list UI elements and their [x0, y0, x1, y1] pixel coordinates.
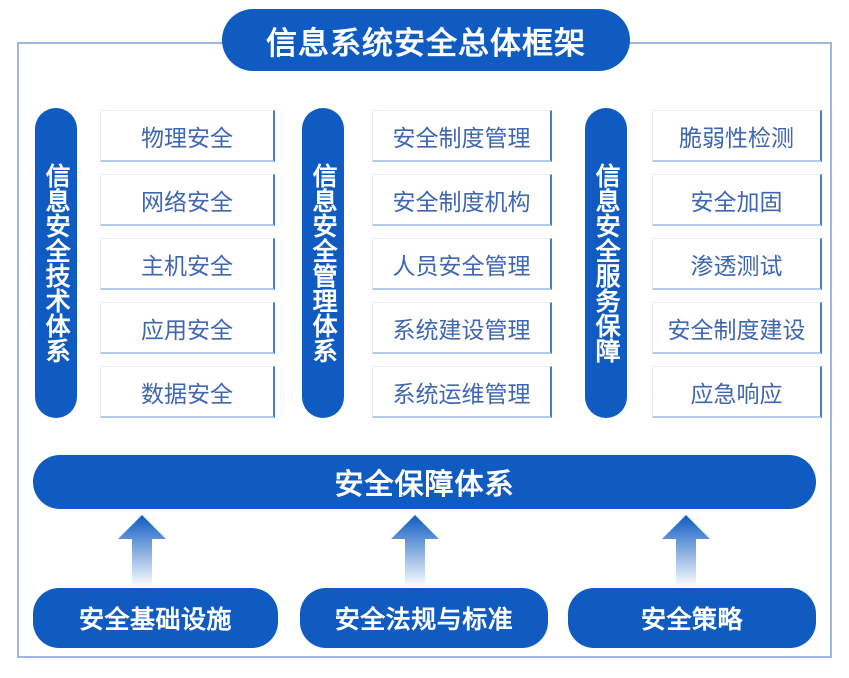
- column-label-1: 信息安全技术体系: [43, 163, 69, 363]
- arrow-up-icon: [391, 515, 439, 587]
- item-label: 安全制度机构: [393, 183, 531, 217]
- item-box[interactable]: 渗透测试: [652, 238, 822, 290]
- column-label-pill-1: 信息安全技术体系: [35, 108, 77, 418]
- item-label: 网络安全: [141, 183, 233, 217]
- item-box[interactable]: 系统运维管理: [372, 366, 552, 418]
- item-label: 物理安全: [141, 119, 233, 153]
- item-box[interactable]: 主机安全: [100, 238, 275, 290]
- foundation-pill-regulations[interactable]: 安全法规与标准: [300, 588, 548, 648]
- item-label: 系统建设管理: [393, 311, 531, 345]
- item-label: 主机安全: [141, 247, 233, 281]
- item-box[interactable]: 脆弱性检测: [652, 110, 822, 162]
- item-box[interactable]: 安全制度建设: [652, 302, 822, 354]
- assurance-system-bar: 安全保障体系: [33, 455, 816, 509]
- item-box[interactable]: 物理安全: [100, 110, 275, 162]
- column-items-1: 物理安全 网络安全 主机安全 应用安全 数据安全: [100, 110, 275, 418]
- item-label: 安全加固: [691, 183, 783, 217]
- item-label: 渗透测试: [691, 247, 783, 281]
- item-box[interactable]: 网络安全: [100, 174, 275, 226]
- item-label: 安全制度建设: [668, 311, 806, 345]
- item-label: 应用安全: [141, 311, 233, 345]
- item-label: 安全制度管理: [393, 119, 531, 153]
- item-box[interactable]: 安全制度机构: [372, 174, 552, 226]
- item-box[interactable]: 应急响应: [652, 366, 822, 418]
- item-label: 应急响应: [691, 375, 783, 409]
- column-label-3: 信息安全服务保障: [593, 163, 619, 363]
- item-label: 脆弱性检测: [679, 119, 794, 153]
- foundation-label: 安全法规与标准: [335, 600, 514, 636]
- item-box[interactable]: 人员安全管理: [372, 238, 552, 290]
- item-label: 系统运维管理: [393, 375, 531, 409]
- item-box[interactable]: 安全制度管理: [372, 110, 552, 162]
- page-title: 信息系统安全总体框架: [266, 18, 586, 63]
- column-items-3: 脆弱性检测 安全加固 渗透测试 安全制度建设 应急响应: [652, 110, 822, 418]
- column-label-2: 信息安全管理体系: [310, 163, 336, 363]
- item-label: 数据安全: [141, 375, 233, 409]
- foundation-label: 安全策略: [641, 600, 743, 636]
- column-items-2: 安全制度管理 安全制度机构 人员安全管理 系统建设管理 系统运维管理: [372, 110, 552, 418]
- arrow-up-icon: [118, 515, 166, 587]
- arrow-up-icon: [662, 515, 710, 587]
- assurance-system-label: 安全保障体系: [334, 461, 514, 503]
- foundation-pill-infrastructure[interactable]: 安全基础设施: [33, 588, 278, 648]
- item-box[interactable]: 应用安全: [100, 302, 275, 354]
- column-label-pill-2: 信息安全管理体系: [302, 108, 344, 418]
- diagram-canvas: 信息系统安全总体框架 信息安全技术体系 物理安全 网络安全 主机安全 应用安全 …: [0, 0, 849, 678]
- item-box[interactable]: 系统建设管理: [372, 302, 552, 354]
- foundation-label: 安全基础设施: [79, 600, 232, 636]
- item-label: 人员安全管理: [393, 247, 531, 281]
- item-box[interactable]: 安全加固: [652, 174, 822, 226]
- foundation-pill-policy[interactable]: 安全策略: [568, 588, 816, 648]
- item-box[interactable]: 数据安全: [100, 366, 275, 418]
- column-label-pill-3: 信息安全服务保障: [585, 108, 627, 418]
- diagram-title-pill: 信息系统安全总体框架: [222, 9, 630, 71]
